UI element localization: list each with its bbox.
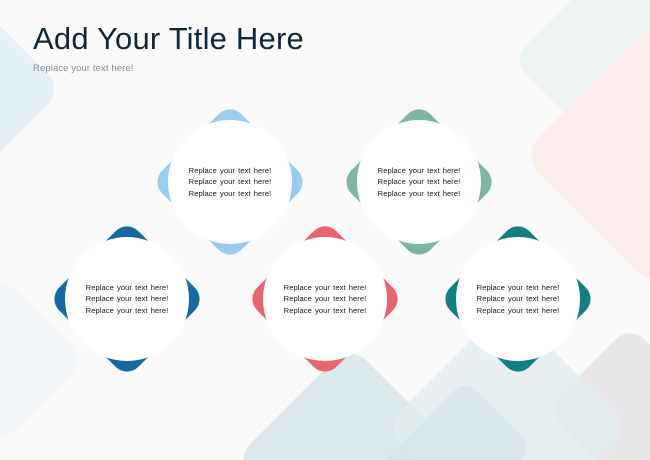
node-bottom-right-text: Replace your text here! Replace your tex… [470,282,566,316]
node-bottom-left[interactable]: Replace your text here! Replace your tex… [48,220,206,378]
node-top-left-text: Replace your text here! Replace your tex… [182,165,278,199]
page-title: Add Your Title Here [33,20,304,58]
node-bottom-center-text: Replace your text here! Replace your tex… [277,282,373,316]
page-subtitle: Replace your text here! [33,62,304,76]
node-bottom-center[interactable]: Replace your text here! Replace your tex… [246,220,404,378]
node-bottom-left-circle: Replace your text here! Replace your tex… [65,237,189,361]
node-bottom-left-text: Replace your text here! Replace your tex… [79,282,175,316]
slide-canvas: Add Your Title Here Replace your text he… [0,0,650,460]
node-bottom-right-circle: Replace your text here! Replace your tex… [456,237,580,361]
node-bottom-center-circle: Replace your text here! Replace your tex… [263,237,387,361]
node-top-right-text: Replace your text here! Replace your tex… [371,165,467,199]
node-bottom-right[interactable]: Replace your text here! Replace your tex… [439,220,597,378]
header: Add Your Title Here Replace your text he… [33,20,304,76]
